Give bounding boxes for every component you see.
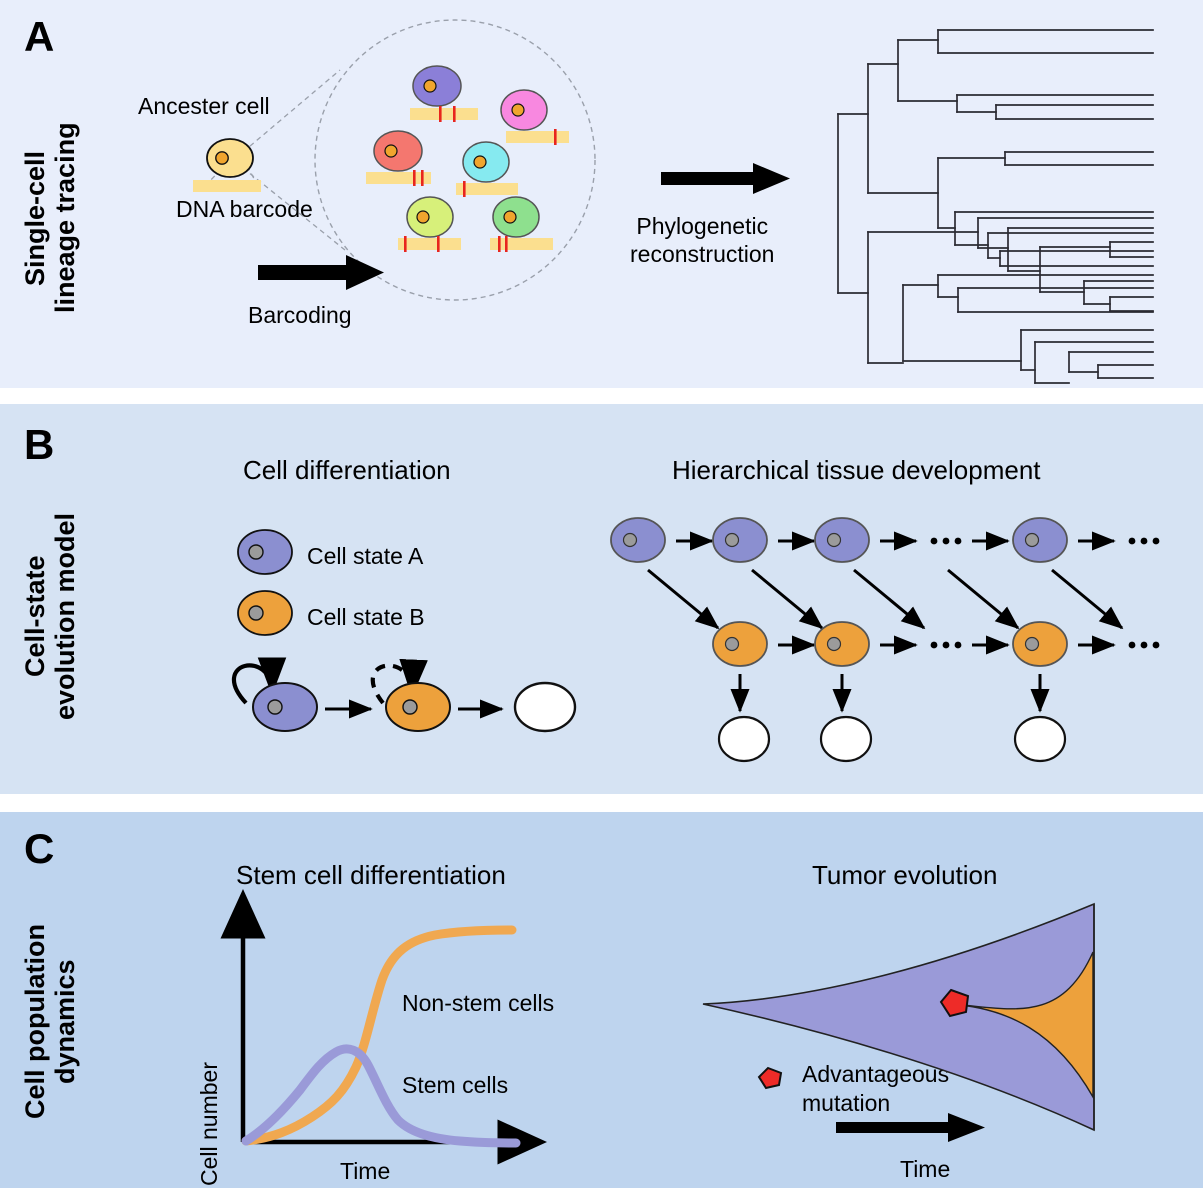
panel-c-cell-population-dynamics: C Cell populationdynamics Stem cell diff… [0,812,1203,1188]
barcoded-cell-purple [410,66,478,122]
panel-a-graphics [0,0,1203,388]
hierarchy-cell-a-2 [713,518,767,562]
legend-cell-state-a-swatch [238,530,292,574]
magnifier-circle [315,20,595,300]
tumor-time-arrow-icon [836,1113,985,1142]
barcoded-cell-magenta [501,90,569,145]
ancestor-cell [207,139,253,177]
hierarchy-ellipsis-b-2 [1129,642,1160,649]
hierarchy-ellipsis-a-2 [1129,538,1160,545]
ancestor-dna-barcode [193,180,261,192]
tumor-evolution-diagram [703,904,1094,1130]
diff-cell-state-b-nucleus [403,700,417,714]
hierarchy-ellipsis-a-1 [931,538,962,545]
barcoded-cell-red [366,131,431,186]
barcoded-cell-yellowgreen [398,197,461,252]
hierarchy-terminal-arrows [740,674,1040,711]
hierarchy-terminal-cells [719,717,1065,761]
barcoded-cell-group [366,66,569,252]
hierarchy-cell-b-3 [1013,622,1067,666]
hierarchy-ellipsis-b-1 [931,642,962,649]
barcoding-arrow-icon [258,255,384,290]
barcoded-cell-cyan [456,142,518,197]
panel-c-graphics [0,812,1203,1188]
diff-cell-state-b [386,683,450,731]
terminal-cell-empty [515,683,575,731]
differentiation-chain [234,665,575,731]
hierarchy-cell-a-3 [815,518,869,562]
legend-cell-state-b-swatch [238,591,292,635]
hierarchy-row-state-b [713,622,1159,666]
hierarchy-cell-a-4 [1013,518,1067,562]
hierarchy-cell-b-2 [815,622,869,666]
panel-b-cell-state-evolution-model: B Cell-stateevolution model Cell differe… [0,404,1203,794]
panel-a-single-cell-lineage-tracing: A Single-celllineage tracing Ancester ce… [0,0,1203,388]
hierarchy-cell-b-1 [713,622,767,666]
phylogenetic-tree-deep-branches [1069,352,1153,378]
advantageous-mutation-legend-icon [759,1068,781,1088]
figure-root: A Single-celllineage tracing Ancester ce… [0,0,1203,1188]
panel-b-graphics [0,404,1203,794]
barcoded-cell-green [490,197,553,252]
phylogenetic-arrow-icon [661,163,790,194]
diff-cell-state-a [253,683,317,731]
diff-cell-state-a-nucleus [268,700,282,714]
ancestor-cell-nucleus [216,152,228,164]
phylogenetic-tree [838,30,1153,383]
hierarchy-diagonal-arrows [648,570,1122,628]
hierarchy-row-state-a [611,518,1159,562]
hierarchy-cell-a-1 [611,518,665,562]
